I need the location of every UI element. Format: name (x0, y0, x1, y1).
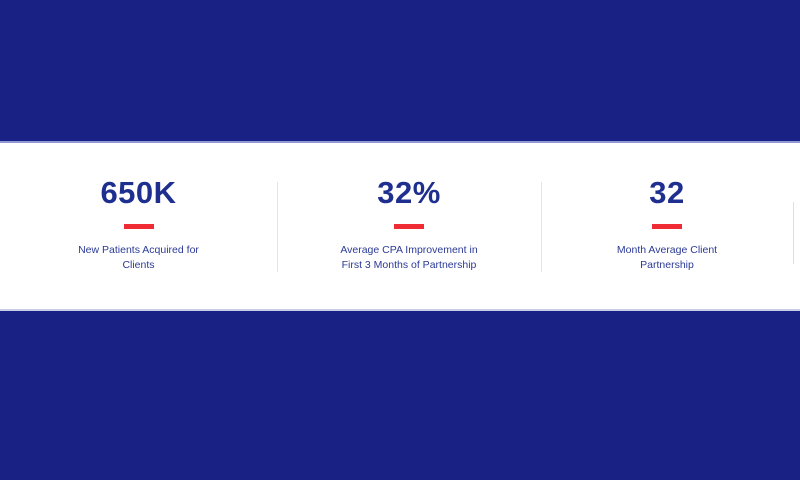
stat-value: 32 (649, 177, 684, 208)
stat-item: 32 Month Average Client Partnership (541, 143, 793, 309)
accent-rule (394, 224, 424, 229)
stat-divider (541, 182, 542, 272)
stat-item-truncated (793, 143, 800, 309)
stat-item: 32% Average CPA Improvement in First 3 M… (277, 143, 541, 309)
stats-row: 650K New Patients Acquired for Clients 3… (0, 143, 800, 309)
accent-rule (652, 224, 682, 229)
stat-value: 650K (100, 177, 176, 208)
stat-caption: Average CPA Improvement in First 3 Month… (340, 243, 477, 273)
stats-band: 650K New Patients Acquired for Clients 3… (0, 141, 800, 311)
stat-caption: Month Average Client Partnership (617, 243, 717, 273)
stat-value: 32% (377, 177, 441, 208)
page-root: 650K New Patients Acquired for Clients 3… (0, 0, 800, 480)
stat-divider (277, 182, 278, 272)
accent-rule (124, 224, 154, 229)
stat-caption: New Patients Acquired for Clients (78, 243, 199, 273)
stat-item: 650K New Patients Acquired for Clients (0, 143, 277, 309)
stat-divider-truncated (793, 202, 794, 264)
